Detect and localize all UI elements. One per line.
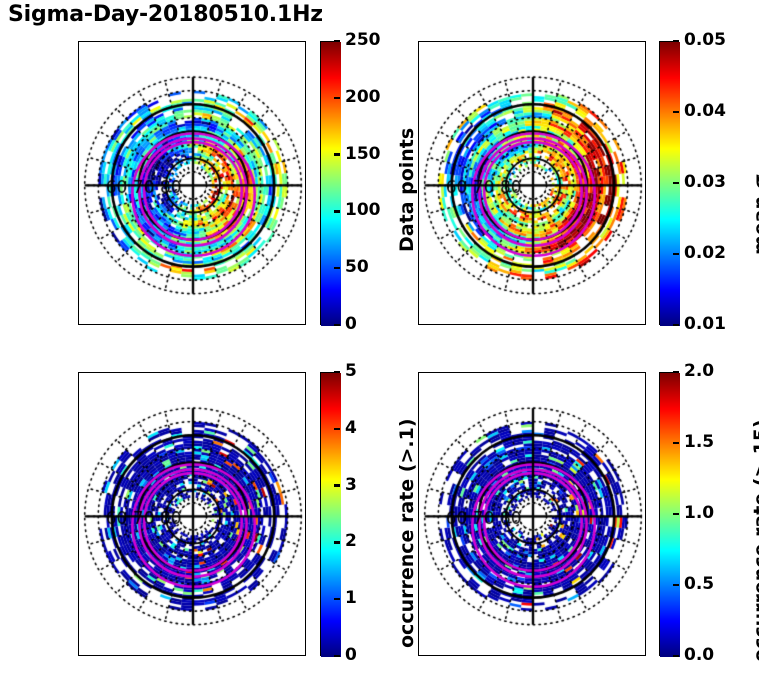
- colorbar-tick-label: 0: [345, 316, 357, 333]
- colorbar-tick: [673, 253, 679, 255]
- polar-axes-top-left: [78, 41, 306, 325]
- colorbar-tick: [673, 584, 679, 586]
- polar-heatmap-bottom-right: [419, 373, 647, 657]
- colorbar-tick-label: 1.5: [684, 434, 714, 451]
- colorbar-label-top-left: Data points: [398, 128, 417, 252]
- colorbar-tick-label: 50: [345, 259, 369, 276]
- colorbar-tick-label: 250: [345, 32, 381, 49]
- colorbar-tick-label: 3: [345, 477, 357, 494]
- polar-axes-bottom-left: [78, 372, 306, 656]
- colorbar-tick-label: 0.03: [684, 174, 726, 191]
- colorbar-tick: [334, 267, 340, 269]
- colorbar-tick-label: 0.02: [684, 245, 726, 262]
- colorbar-tick-label: 0.05: [684, 32, 726, 49]
- colorbar-tick: [673, 442, 679, 444]
- colorbar-tick-label: 1.0: [684, 505, 714, 522]
- colorbar-tick-label: 0.01: [684, 316, 726, 333]
- colorbar-tick: [673, 182, 679, 184]
- colorbar-tick: [334, 210, 340, 212]
- colorbar-tick-label: 1: [345, 590, 357, 607]
- colorbar-tick: [334, 371, 340, 373]
- colorbar-tick: [334, 598, 340, 600]
- colorbar-tick: [673, 324, 679, 326]
- colorbar-label-bottom-left: occurrence rate (>.1): [398, 418, 417, 648]
- colorbar-tick-label: 4: [345, 420, 357, 437]
- colorbar-tick-label: 2.0: [684, 363, 714, 380]
- colorbar-tick: [334, 428, 340, 430]
- colorbar-tick-label: 150: [345, 146, 381, 163]
- polar-heatmap-top-left: [79, 42, 307, 326]
- polar-heatmap-bottom-left: [79, 373, 307, 657]
- polar-axes-bottom-right: [418, 372, 646, 656]
- polar-axes-top-right: [418, 41, 646, 325]
- colorbar-tick: [334, 324, 340, 326]
- colorbar-bottom-left: [320, 372, 340, 656]
- colorbar-tick-label: 0.5: [684, 576, 714, 593]
- colorbar-gradient-top-left: [321, 42, 341, 326]
- colorbar-tick-label: 2: [345, 533, 357, 550]
- colorbar-tick: [334, 655, 340, 657]
- colorbar-tick-label: 0.04: [684, 103, 726, 120]
- colorbar-tick-label: 100: [345, 202, 381, 219]
- colorbar-tick: [334, 40, 340, 42]
- colorbar-tick: [334, 541, 340, 543]
- page-title: Sigma-Day-20180510.1Hz: [8, 2, 323, 27]
- colorbar-tick: [673, 40, 679, 42]
- colorbar-tick-label: 200: [345, 89, 381, 106]
- colorbar-tick: [673, 513, 679, 515]
- colorbar-tick: [673, 371, 679, 373]
- colorbar-top-left: [320, 41, 340, 325]
- colorbar-tick: [334, 484, 340, 486]
- figure-canvas: Sigma-Day-20180510.1Hz 050100150200250 D…: [0, 0, 759, 674]
- colorbar-tick-label: 0.0: [684, 647, 714, 664]
- colorbar-tick: [673, 111, 679, 113]
- colorbar-gradient-bottom-left: [321, 373, 341, 657]
- colorbar-tick-label: 5: [345, 363, 357, 380]
- colorbar-tick-label: 0: [345, 647, 357, 664]
- colorbar-tick: [334, 153, 340, 155]
- polar-heatmap-top-right: [419, 42, 647, 326]
- colorbar-tick: [673, 655, 679, 657]
- colorbar-tick: [334, 97, 340, 99]
- colorbar-label-top-right: mean σϕ: [752, 164, 759, 255]
- colorbar-label-bottom-right: occurrence rate (>.15): [752, 419, 759, 662]
